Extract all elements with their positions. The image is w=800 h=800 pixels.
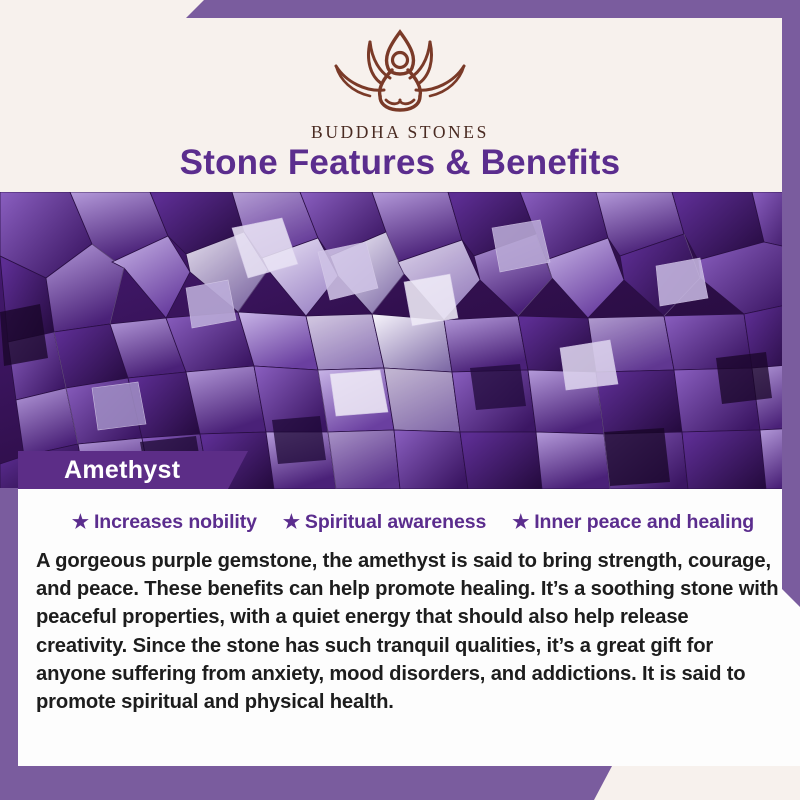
frame-accent-left [0,488,18,800]
frame-accent-bottom [0,766,612,800]
star-icon: ★ [72,513,89,532]
hero-image [0,192,800,489]
benefits-list: ★ Increases nobility ★ Spiritual awarene… [18,489,800,534]
star-icon: ★ [283,513,300,532]
content-panel: ★ Increases nobility ★ Spiritual awarene… [18,489,800,766]
brand-name: BUDDHA STONES [0,122,800,143]
lotus-meditation-icon [0,22,800,118]
benefit-label: Spiritual awareness [305,511,486,534]
stone-name-label: Amethyst [64,456,180,485]
benefit-item: ★ Spiritual awareness [283,511,486,534]
brand-logo: BUDDHA STONES [0,22,800,143]
stone-description: A gorgeous purple gemstone, the amethyst… [36,547,780,716]
poster-header: BUDDHA STONES Stone Features & Benefits [0,0,800,192]
stone-name-banner: Amethyst [18,451,248,489]
star-icon: ★ [512,513,529,532]
benefit-item: ★ Increases nobility [72,511,257,534]
benefit-label: Inner peace and healing [534,511,754,534]
benefit-label: Increases nobility [94,511,257,534]
benefit-item: ★ Inner peace and healing [512,511,754,534]
page-title-text: Stone Features & Benefits [180,143,621,183]
amethyst-crystal-cluster-photo [0,192,800,489]
page-title: Stone Features & Benefits [0,143,800,183]
stone-features-poster: BUDDHA STONES Stone Features & Benefits [0,0,800,800]
